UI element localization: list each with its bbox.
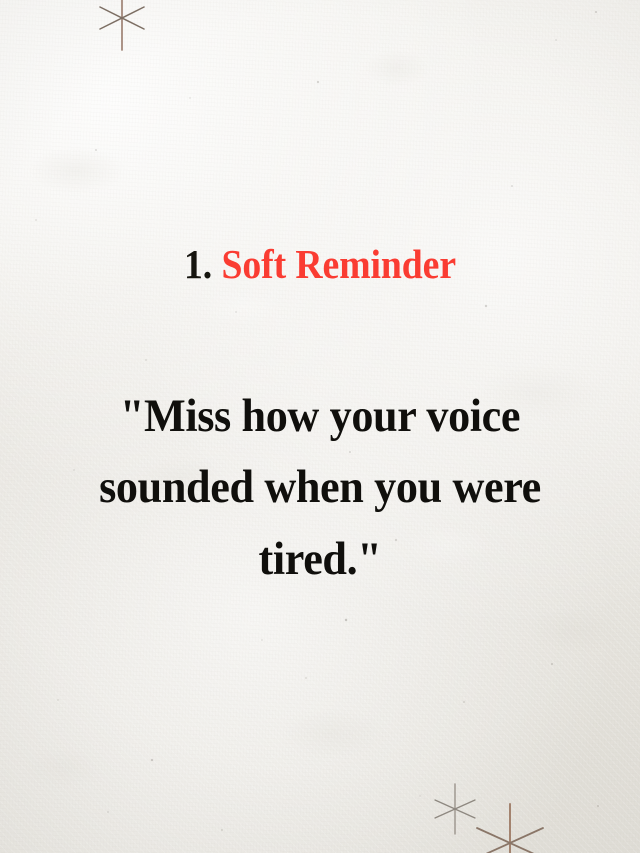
title-label: Soft Reminder xyxy=(212,241,456,287)
quote-line: sounded when you were xyxy=(61,452,580,523)
quote-card: 1. Soft Reminder "Miss how your voice so… xyxy=(0,0,640,853)
text-content: 1. Soft Reminder "Miss how your voice so… xyxy=(0,0,640,853)
quote-line: "Miss how your voice xyxy=(61,381,580,452)
title-number: 1. xyxy=(184,241,212,287)
quote-line: tired." xyxy=(61,524,580,595)
quote-text: "Miss how your voice sounded when you we… xyxy=(61,381,580,595)
page-title: 1. Soft Reminder xyxy=(26,243,615,286)
